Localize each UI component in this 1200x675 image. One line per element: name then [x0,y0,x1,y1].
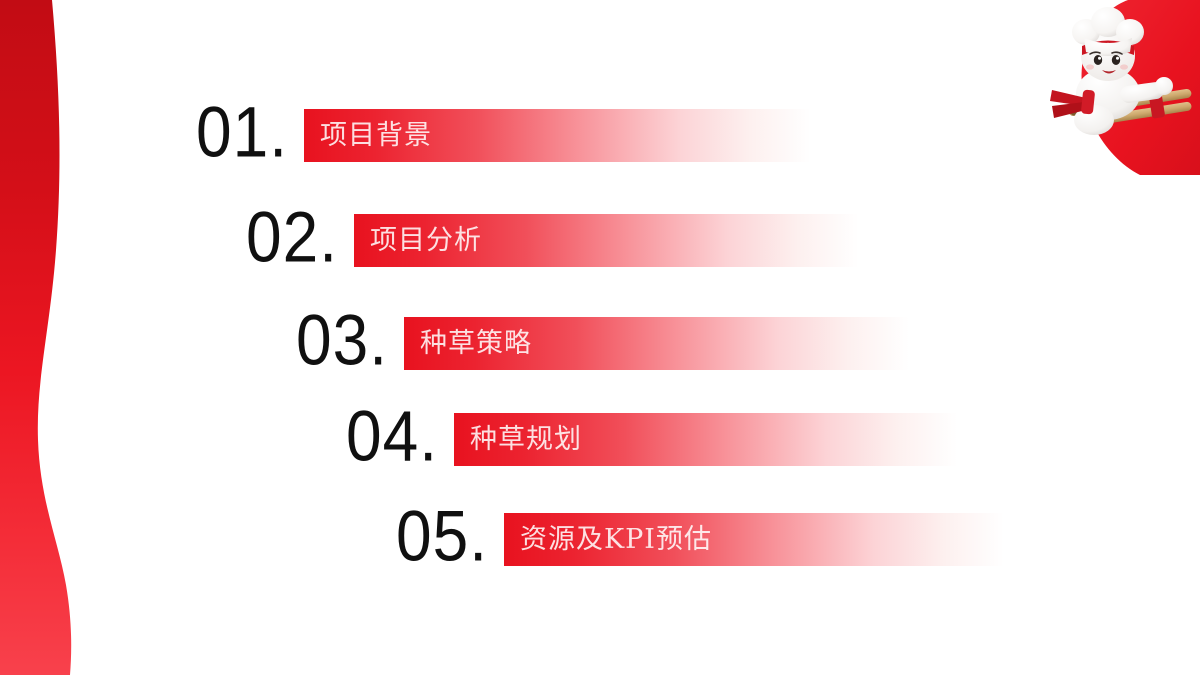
agenda-label-2: 项目分析 [354,227,482,254]
agenda-item-3[interactable]: 03. 种草策略 [296,300,909,386]
agenda-item-1[interactable]: 01. 项目背景 [196,92,811,178]
agenda-item-2[interactable]: 02. 项目分析 [246,197,859,283]
agenda-number-2: 02. [246,201,338,279]
agenda-number-1: 01. [196,96,288,174]
agenda-label-4: 种草规划 [454,426,582,453]
agenda-bar-2: 项目分析 [354,214,859,267]
agenda-item-4[interactable]: 04. 种草规划 [346,396,957,482]
agenda-number-3: 03. [296,304,388,382]
agenda-bar-4: 种草规划 [454,413,957,466]
agenda-number-5: 05. [396,500,488,578]
agenda-slide: 01. 项目背景 02. 项目分析 03. 种草策略 04. 种草规划 05. [0,0,1200,675]
agenda-bar-1: 项目背景 [304,109,811,162]
agenda-bar-5: 资源及KPI预估 [504,513,1004,566]
agenda-label-5: 资源及KPI预估 [504,526,712,553]
agenda-label-3: 种草策略 [404,330,532,357]
agenda-label-1: 项目背景 [304,122,432,149]
agenda-item-5[interactable]: 05. 资源及KPI预估 [396,496,1004,582]
agenda-number-4: 04. [346,400,438,478]
agenda-bar-3: 种草策略 [404,317,909,370]
agenda-list: 01. 项目背景 02. 项目分析 03. 种草策略 04. 种草规划 05. [0,0,1200,675]
